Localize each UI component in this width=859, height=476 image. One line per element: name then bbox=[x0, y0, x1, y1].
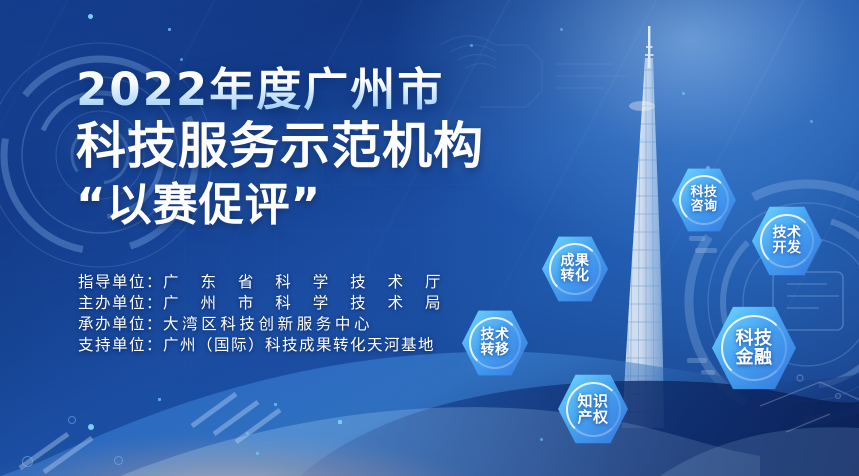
particle bbox=[540, 438, 543, 441]
headline-block: 2022年度广州市 科技服务示范机构 “以赛促评” bbox=[76, 66, 576, 229]
particle-ring bbox=[22, 456, 33, 467]
particle bbox=[470, 44, 473, 47]
particle bbox=[640, 138, 643, 141]
badge-label: 科技 金融 bbox=[736, 329, 773, 368]
badge-label: 技术 开发 bbox=[773, 226, 802, 256]
badge-label: 成果 转化 bbox=[561, 254, 590, 284]
organization-label: 支持单位： bbox=[78, 335, 163, 356]
organization-credits: 指导单位： 广 东 省 科 学 技 术 厅 主办单位： 广 州 市 科 学 技 … bbox=[78, 272, 449, 356]
particle bbox=[246, 432, 249, 435]
particle bbox=[158, 398, 161, 401]
organization-row: 支持单位： 广州（国际）科技成果转化天河基地 bbox=[78, 335, 449, 356]
badge-achievement-transformation[interactable]: 成果 转化 bbox=[542, 236, 608, 302]
badge-tech-development[interactable]: 技术 开发 bbox=[752, 206, 822, 276]
badge-label: 科技 咨询 bbox=[690, 186, 717, 214]
particle bbox=[810, 120, 813, 123]
particle bbox=[180, 58, 183, 61]
organization-label: 指导单位： bbox=[78, 272, 163, 293]
title-slogan-line: “以赛促评” bbox=[76, 180, 576, 230]
particle-ring bbox=[114, 456, 123, 465]
warm-horizon-glow bbox=[0, 376, 600, 476]
organization-label: 承办单位： bbox=[78, 314, 163, 335]
poster-banner: 2022年度广州市 科技服务示范机构 “以赛促评” 指导单位： 广 东 省 科 … bbox=[0, 0, 859, 476]
organization-label: 主办单位： bbox=[78, 293, 163, 314]
organization-value: 广州（国际）科技成果转化天河基地 bbox=[163, 335, 435, 356]
particle bbox=[88, 14, 93, 19]
particle bbox=[88, 424, 94, 430]
organization-row: 承办单位： 大湾区科技创新服务中心 bbox=[78, 314, 449, 335]
badge-tech-consulting[interactable]: 科技 咨询 bbox=[672, 168, 736, 232]
organization-value: 大湾区科技创新服务中心 bbox=[163, 314, 373, 335]
particle bbox=[168, 28, 171, 31]
organization-row: 指导单位： 广 东 省 科 学 技 术 厅 bbox=[78, 272, 449, 293]
particle bbox=[256, 452, 259, 455]
particle bbox=[560, 28, 563, 31]
particle bbox=[682, 92, 685, 95]
badge-technology-transfer[interactable]: 技术 转移 bbox=[462, 310, 528, 376]
organization-row: 主办单位： 广 州 市 科 学 技 术 局 bbox=[78, 293, 449, 314]
particle-ring bbox=[68, 416, 76, 424]
title-main-line: 科技服务示范机构 bbox=[76, 119, 576, 174]
badge-label: 技术 转移 bbox=[481, 328, 510, 358]
badge-label: 知识 产权 bbox=[577, 393, 608, 425]
title-year-line: 2022年度广州市 bbox=[76, 66, 576, 115]
particle bbox=[338, 420, 342, 424]
organization-value: 广 东 省 科 学 技 术 厅 bbox=[163, 272, 449, 293]
organization-value: 广 州 市 科 学 技 术 局 bbox=[163, 293, 449, 314]
particle bbox=[274, 403, 277, 406]
badge-sci-tech-finance[interactable]: 科技 金融 bbox=[712, 306, 796, 390]
badge-intellectual-property[interactable]: 知识 产权 bbox=[558, 374, 628, 444]
